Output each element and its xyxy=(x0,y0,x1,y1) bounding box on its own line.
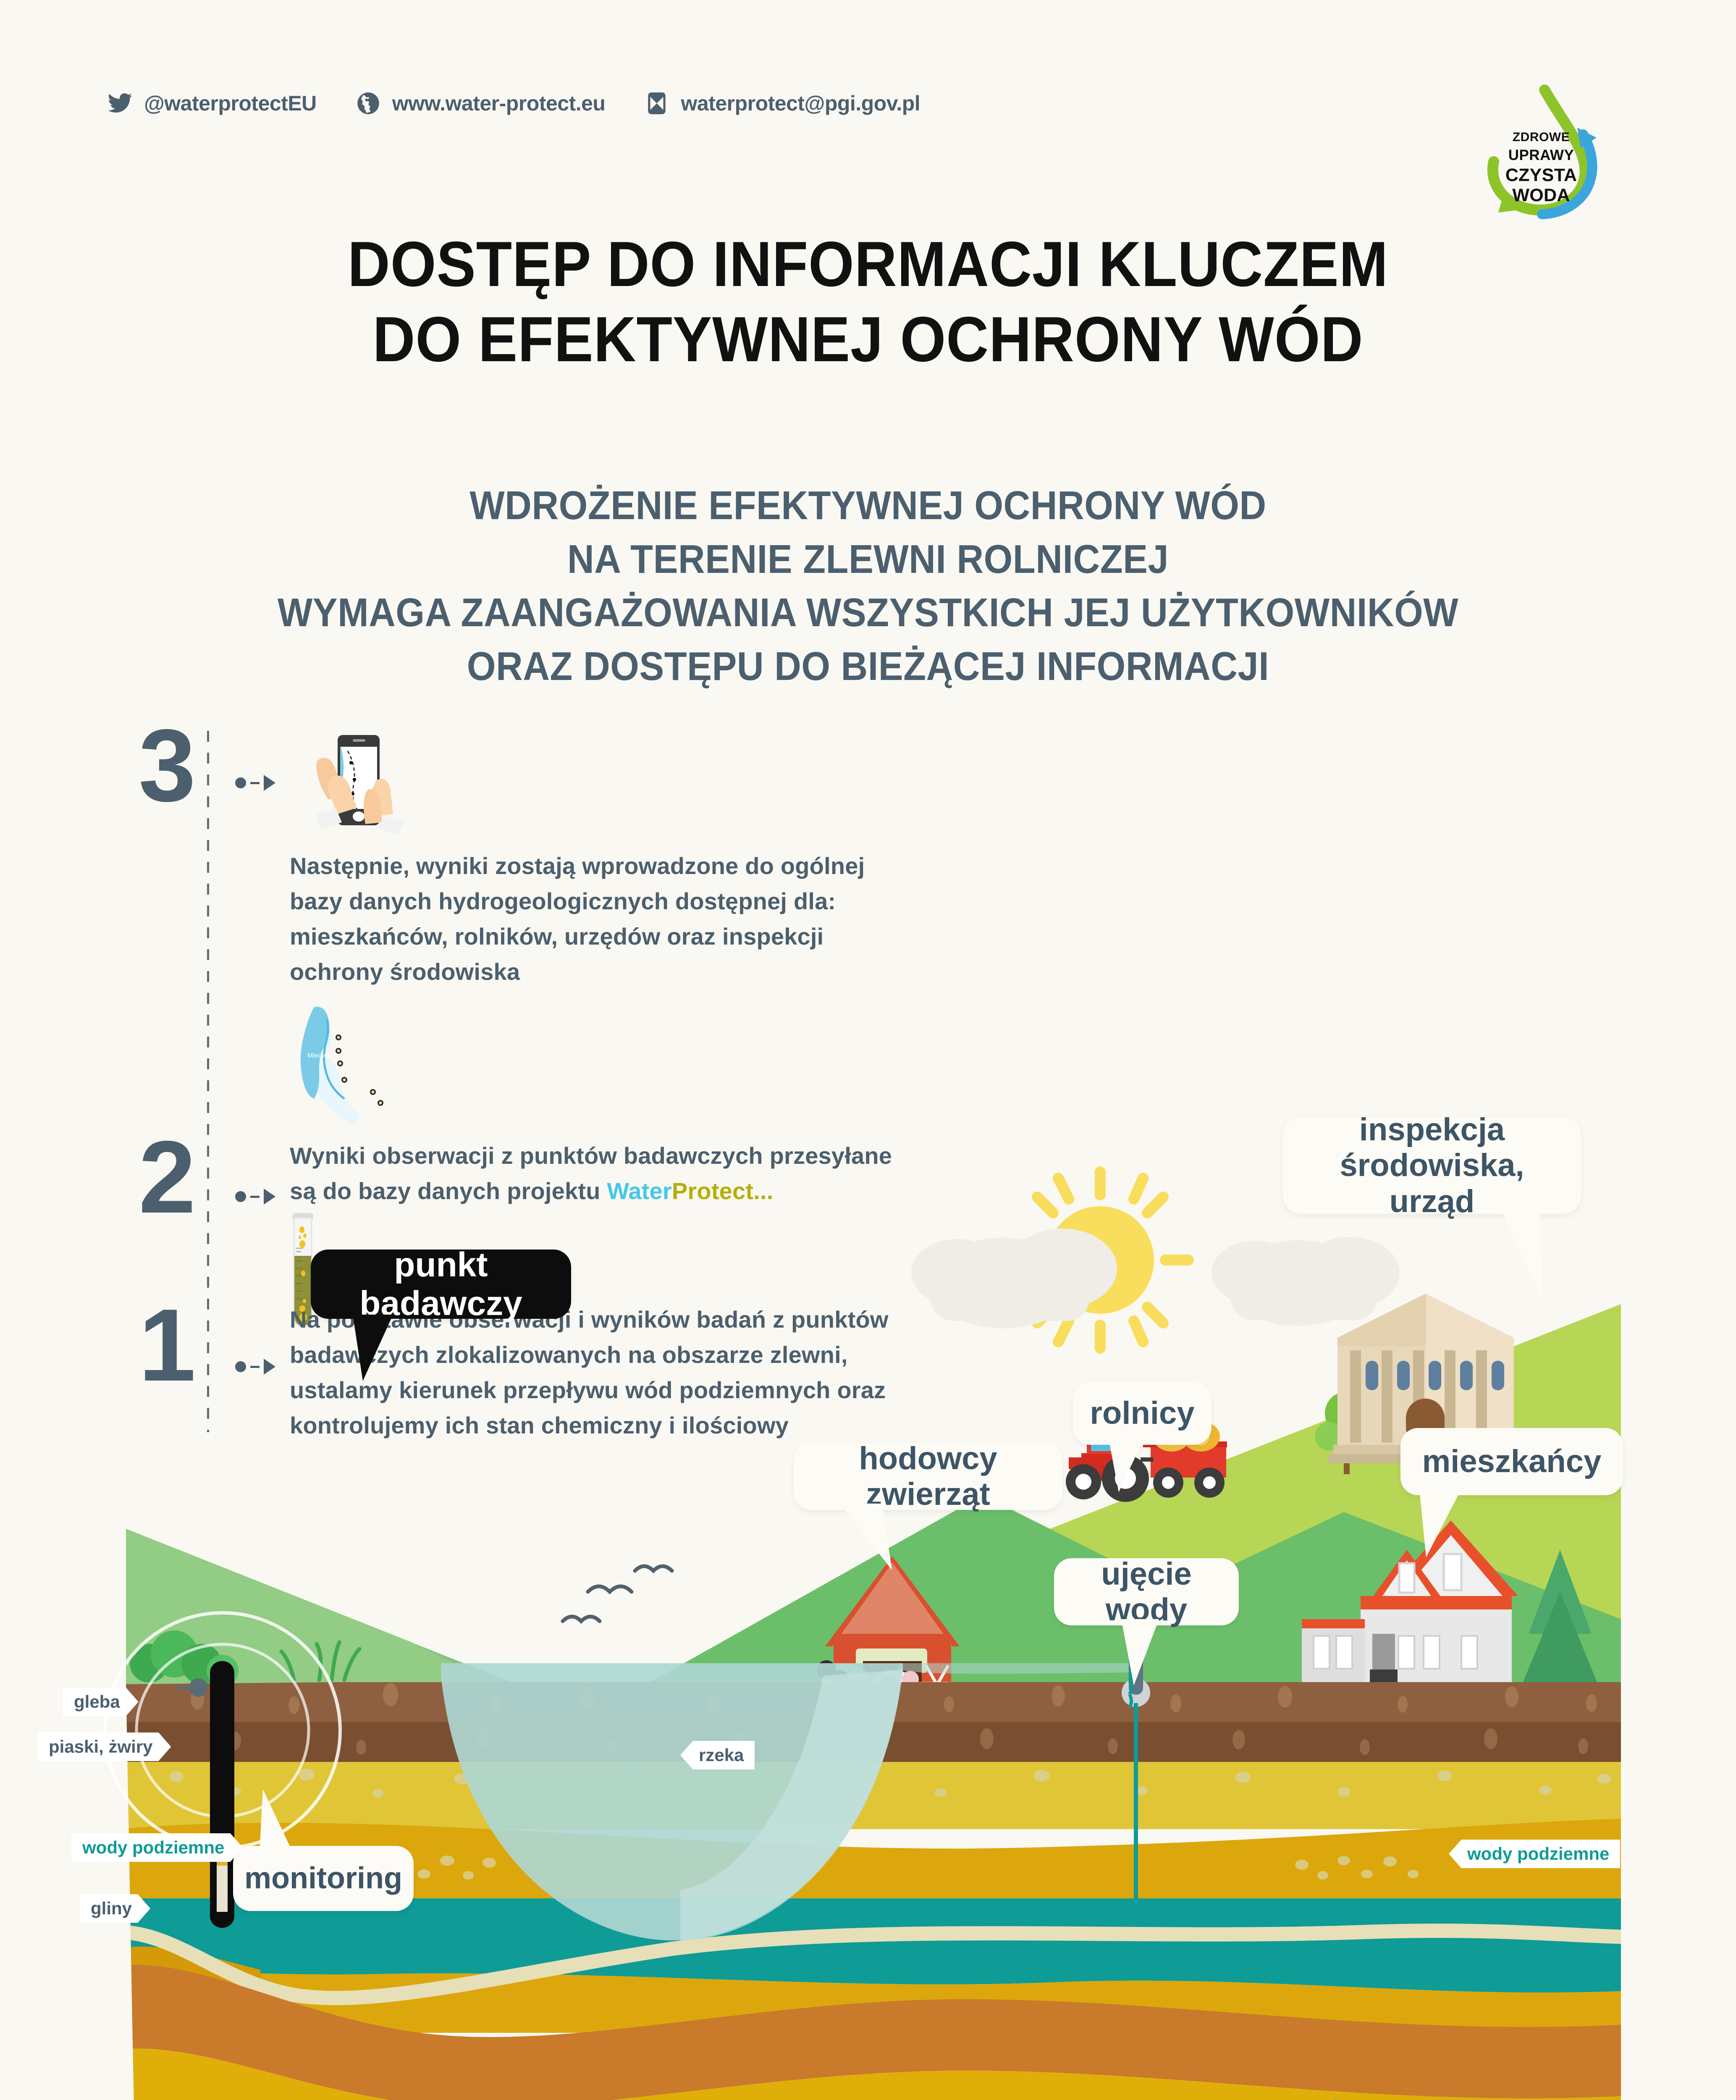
geotag-gleba-label: gleba xyxy=(74,1692,120,1711)
poster-root: @waterprotectEU www.water-protect.eu wat… xyxy=(0,0,1736,2100)
geotag-wody-podziemne-right[interactable]: wody podziemne xyxy=(1449,1840,1620,1868)
step-3-text: Następnie, wyniki zostają wprowadzone do… xyxy=(290,848,886,990)
badge-line-1: ZDROWE xyxy=(1478,131,1604,144)
bubble-monitoring[interactable]: monitoring xyxy=(233,1846,414,1911)
bubble-tail-ujecie xyxy=(1121,1619,1176,1686)
bubble-tail-rolnicy xyxy=(1109,1438,1159,1493)
contact-twitter[interactable]: @waterprotectEU xyxy=(107,90,317,116)
page-subtitle: WDROŻENIE EFEKTYWNEJ OCHRONY WÓD NA TERE… xyxy=(69,479,1666,693)
bubble-mieszkancy[interactable]: mieszkańcy xyxy=(1400,1428,1623,1495)
step-3-arrow xyxy=(235,775,275,791)
geotag-gliny-label: gliny xyxy=(91,1898,132,1918)
globe-icon xyxy=(355,90,381,116)
badge-line-2: UPRAWY xyxy=(1478,148,1604,163)
contact-email[interactable]: waterprotect@pgi.gov.pl xyxy=(644,90,920,116)
geotag-rzeka-label: rzeka xyxy=(699,1745,744,1765)
geotag-wody-right-label: wody podziemne xyxy=(1467,1844,1609,1864)
badge-line-3: CZYSTA xyxy=(1478,166,1604,184)
catchment-map-icon: Miedwie xyxy=(260,1004,386,1126)
bubble-tail-mieszkancy xyxy=(1411,1489,1474,1558)
geotag-wody-podziemne-left[interactable]: wody podziemne xyxy=(71,1833,243,1862)
step-3-number: 3 xyxy=(139,714,196,817)
geotag-wody-left-label: wody podziemne xyxy=(82,1837,224,1857)
step-1-number: 1 xyxy=(139,1294,196,1396)
zdrowe-uprawy-czysta-woda-logo: ZDROWE UPRAWY CZYSTA WODA xyxy=(1478,84,1604,223)
bubble-tail-hodowcy xyxy=(840,1504,903,1571)
map-lake-label: Miedwie xyxy=(307,1052,332,1059)
geotag-piaski-zwiry[interactable]: piaski, żwiry xyxy=(38,1732,171,1761)
bubble-punkt-badawczy-label: punkt badawczy xyxy=(328,1246,554,1323)
contact-email-label: waterprotect@pgi.gov.pl xyxy=(681,91,920,115)
bubble-tail-inspekcja xyxy=(1499,1205,1562,1302)
geotag-piaski-label: piaski, żwiry xyxy=(49,1737,152,1756)
mail-icon xyxy=(644,90,670,116)
bubble-tail-punkt xyxy=(353,1315,407,1382)
step-1-arrow xyxy=(235,1359,275,1375)
badge-line-4: WODA xyxy=(1478,186,1604,205)
bubble-inspekcja-label: inspekcja środowiska, urząd xyxy=(1300,1112,1564,1219)
brand-protect: Protect... xyxy=(672,1178,774,1204)
bubble-hodowcy-label: hodowcy zwierząt xyxy=(810,1441,1046,1512)
contact-bar: @waterprotectEU www.water-protect.eu wat… xyxy=(107,90,920,116)
bubble-tail-monitoring xyxy=(252,1789,307,1852)
bubble-rolnicy-label: rolnicy xyxy=(1090,1395,1194,1431)
bubble-hodowcy-zwierzat[interactable]: hodowcy zwierząt xyxy=(794,1443,1062,1510)
step-connector-line xyxy=(207,731,209,1432)
geotag-gliny[interactable]: gliny xyxy=(80,1894,150,1923)
bubble-ujecie-wody[interactable]: ujęcie wody xyxy=(1054,1558,1239,1625)
bubble-rolnicy[interactable]: rolnicy xyxy=(1073,1382,1212,1445)
waterprotect-mark-icon xyxy=(1285,2089,1386,2100)
bubble-inspekcja[interactable]: inspekcja środowiska, urząd xyxy=(1283,1117,1581,1214)
contact-website[interactable]: www.water-protect.eu xyxy=(355,90,606,116)
smartphone-map-icon xyxy=(294,727,420,838)
bubble-punkt-badawczy[interactable]: punkt badawczy xyxy=(311,1249,571,1319)
step-2-number: 2 xyxy=(139,1126,196,1228)
bubble-ujecie-label: ujęcie wody xyxy=(1071,1556,1222,1627)
page-title: DOSTĘP DO INFORMACJI KLUCZEM DO EFEKTYWN… xyxy=(69,227,1666,378)
step-2-arrow xyxy=(235,1189,275,1205)
step-2-text-main: Wyniki obserwacji z punktów badawczych p… xyxy=(290,1142,892,1204)
cloud-icon xyxy=(1212,1237,1400,1326)
contact-twitter-label: @waterprotectEU xyxy=(144,91,317,115)
contact-website-label: www.water-protect.eu xyxy=(392,91,606,115)
geotag-rzeka[interactable]: rzeka xyxy=(680,1741,755,1769)
geotag-gleba[interactable]: gleba xyxy=(63,1688,139,1716)
step-2-text: Wyniki obserwacji z punktów badawczych p… xyxy=(290,1138,920,1209)
twitter-icon xyxy=(107,90,133,116)
bubble-mieszkancy-label: mieszkańcy xyxy=(1422,1444,1602,1479)
brand-water: Water xyxy=(607,1178,672,1204)
bubble-monitoring-label: monitoring xyxy=(244,1861,402,1895)
